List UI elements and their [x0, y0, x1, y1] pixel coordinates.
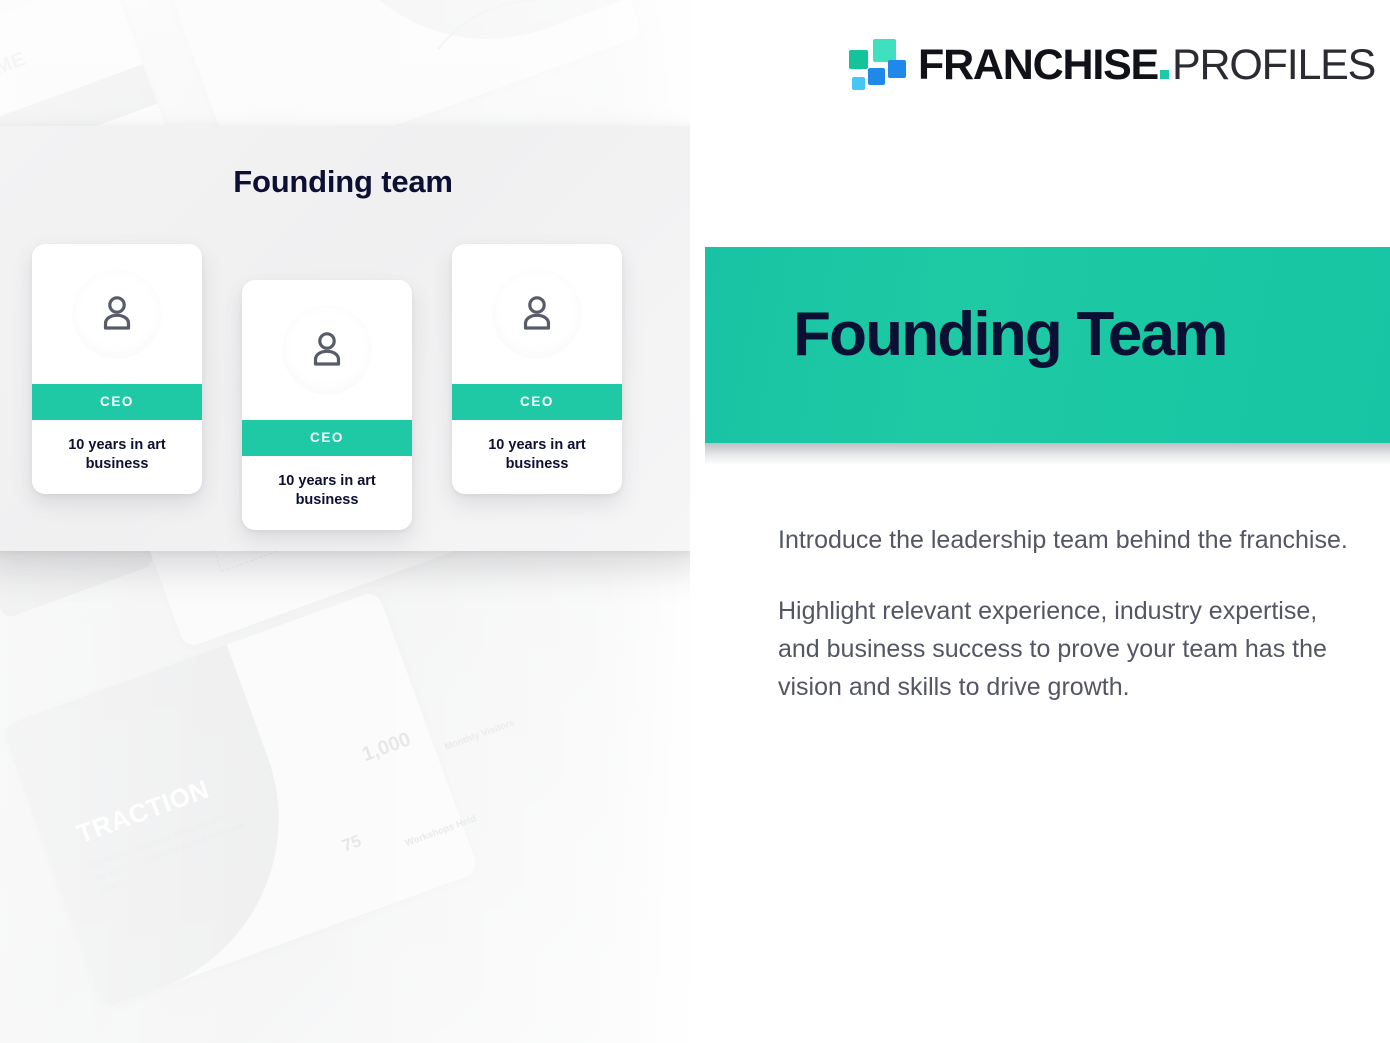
person-icon: [95, 292, 139, 336]
avatar: [32, 244, 202, 384]
role-badge: CEO: [32, 384, 202, 420]
role-badge: CEO: [452, 384, 622, 420]
avatar: [452, 244, 622, 384]
page-title: Founding Team: [793, 299, 1227, 370]
body-paragraph-1: Introduce the leadership team behind the…: [778, 521, 1350, 559]
logo-square-cyan: [852, 77, 865, 90]
slide-preview-heading: Founding team: [0, 164, 704, 200]
logo-mark-icon: [848, 37, 904, 93]
logo-square-blue: [868, 68, 885, 85]
logo-square-teal-light: [873, 39, 896, 62]
team-member-card[interactable]: CEO 10 years in art business: [242, 280, 412, 530]
body-paragraph-2: Highlight relevant experience, industry …: [778, 592, 1350, 706]
founding-team-slide-preview: Founding team CEO 10 years in art busine…: [0, 126, 704, 551]
banner-shadow: [705, 443, 1390, 465]
avatar: [242, 280, 412, 420]
role-badge: CEO: [242, 420, 412, 456]
title-banner: Founding Team: [705, 247, 1390, 443]
member-detail: 10 years in art business: [452, 420, 622, 494]
member-detail: 10 years in art business: [242, 456, 412, 530]
logo-square-teal-dark: [849, 50, 868, 69]
logo-square-blue-2: [888, 60, 906, 78]
logo-text-light: PROFILES: [1172, 44, 1375, 87]
person-icon: [305, 328, 349, 372]
member-detail: 10 years in art business: [32, 420, 202, 494]
deck-slide-traction: TRACTION Significant milestones demonstr…: [1, 590, 479, 1009]
logo-wordmark: FRANCHISE PROFILES: [918, 44, 1375, 87]
team-member-card[interactable]: CEO 10 years in art business: [32, 244, 202, 494]
team-member-card[interactable]: CEO 10 years in art business: [452, 244, 622, 494]
body-copy: Introduce the leadership team behind the…: [778, 521, 1350, 706]
logo-dot-square: [1160, 70, 1169, 79]
deck-label: Monthly Visitors: [443, 701, 560, 755]
logo-text-bold: FRANCHISE: [918, 44, 1158, 87]
brand-logo: FRANCHISE PROFILES: [848, 37, 1375, 93]
person-icon: [515, 292, 559, 336]
